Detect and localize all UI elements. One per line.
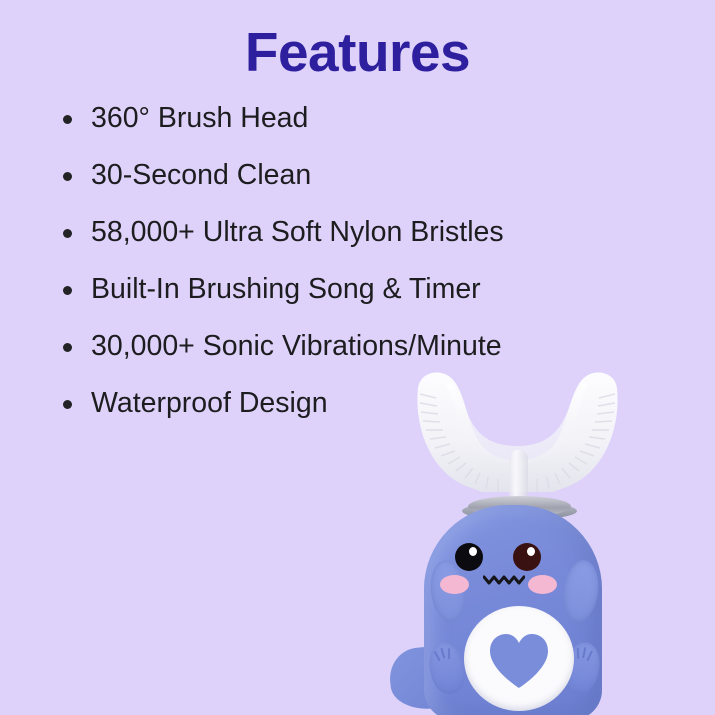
eye-highlight	[527, 547, 535, 556]
bullet-icon	[63, 400, 72, 409]
list-item: Built-In Brushing Song & Timer	[58, 271, 678, 328]
feature-label: 58,000+ Ultra Soft Nylon Bristles	[91, 216, 504, 248]
wavy-mouth-icon	[483, 573, 525, 586]
heart-icon	[487, 632, 551, 690]
product-illustration	[388, 360, 715, 715]
feature-label: 30,000+ Sonic Vibrations/Minute	[91, 330, 502, 362]
feature-label: Built-In Brushing Song & Timer	[91, 273, 481, 305]
bullet-icon	[63, 229, 72, 238]
eye-right	[513, 543, 541, 571]
feature-label: 30-Second Clean	[91, 159, 311, 191]
feature-label: 360° Brush Head	[91, 102, 308, 134]
eye-highlight	[469, 547, 477, 556]
list-item: 30-Second Clean	[58, 157, 678, 214]
bullet-icon	[63, 172, 72, 181]
feature-label: Waterproof Design	[91, 387, 328, 419]
bullet-icon	[63, 343, 72, 352]
page-title: Features	[0, 22, 715, 83]
features-poster: Features 360° Brush Head 30-Second Clean…	[0, 0, 715, 715]
cheek-right	[528, 575, 557, 594]
cheek-left	[440, 575, 469, 594]
list-item: 360° Brush Head	[58, 100, 678, 157]
bullet-icon	[63, 286, 72, 295]
list-item: 58,000+ Ultra Soft Nylon Bristles	[58, 214, 678, 271]
bullet-icon	[63, 115, 72, 124]
eye-left	[455, 543, 483, 571]
